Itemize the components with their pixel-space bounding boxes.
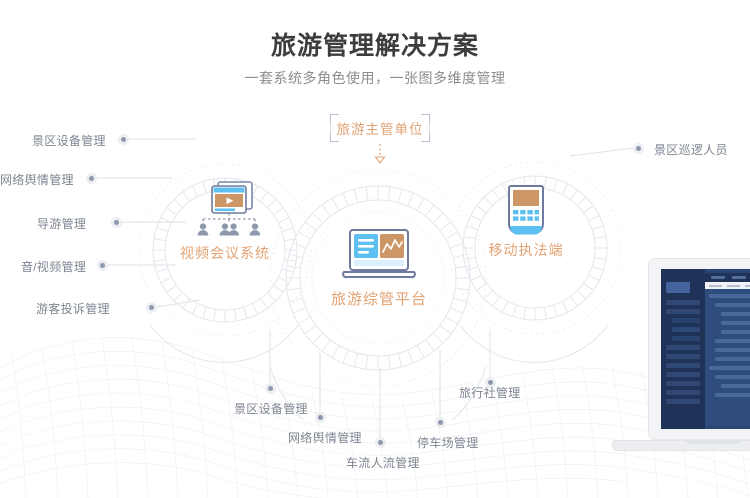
bottom-item-dot-3[interactable] [435, 417, 446, 428]
left-item-label-1: 网络舆情管理 [0, 171, 74, 188]
hub-label-video: 视频会议系统 [165, 243, 285, 263]
dashboard-body [705, 289, 750, 426]
handheld-device-icon [505, 183, 547, 243]
left-item-label-2: 导游管理 [37, 215, 86, 232]
dashboard-tree [705, 289, 750, 426]
bottom-item-label-0: 景区设备管理 [234, 400, 308, 417]
left-item-label-3: 音/视频管理 [21, 258, 86, 275]
bottom-item-dot-2[interactable] [375, 437, 386, 448]
corner-tl [330, 114, 339, 123]
bottom-item-label-1: 网络舆情管理 [288, 429, 362, 446]
corner-bl [330, 133, 339, 142]
bottom-item-label-3: 停车场管理 [417, 434, 479, 451]
left-item-label-4: 游客投诉管理 [36, 300, 110, 317]
sidebar-row [666, 399, 700, 404]
page-title: 旅游管理解决方案 [0, 26, 750, 62]
corner-tr [421, 114, 430, 123]
right-item-dot-0[interactable] [633, 143, 644, 154]
hub-label-mobile: 移动执法端 [472, 240, 580, 260]
left-item-dot-0[interactable] [118, 134, 129, 145]
hub-label-platform: 旅游综管平台 [318, 288, 440, 309]
left-item-dot-3[interactable] [97, 260, 108, 271]
sidebar-row [666, 381, 700, 386]
sidebar-row [672, 336, 700, 341]
authority-label: 旅游主管单位 [337, 118, 424, 138]
sidebar-row [666, 345, 700, 350]
bottom-item-dot-0[interactable] [265, 383, 276, 394]
edge-right [429, 123, 430, 133]
dashboard-main [705, 269, 750, 429]
bottom-item-dot-1[interactable] [315, 412, 326, 423]
bottom-item-label-4: 旅行社管理 [459, 384, 521, 401]
right-item-label-0: 景区巡逻人员 [654, 141, 728, 158]
sidebar-row [666, 390, 700, 395]
sidebar-row-selected [672, 327, 700, 332]
sidebar-row [666, 363, 700, 368]
left-item-dot-1[interactable] [86, 173, 97, 184]
video-conference-icon [190, 178, 260, 240]
corner-br [421, 133, 430, 142]
bottom-item-label-2: 车流人流管理 [346, 454, 420, 471]
page-subtitle: 一套系统多角色使用，一张图多维度管理 [0, 68, 750, 88]
authority-box[interactable]: 旅游主管单位 [330, 114, 430, 142]
edge-left [330, 123, 331, 133]
dashboard-logo [666, 282, 700, 293]
left-item-label-0: 景区设备管理 [32, 132, 106, 149]
laptop-notch [686, 440, 741, 444]
laptop-dashboard-preview [648, 258, 750, 473]
poster-canvas: 旅游管理解决方案 一套系统多角色使用，一张图多维度管理 [0, 0, 750, 498]
dashboard-sidebar [661, 269, 705, 429]
dashboard-topbar [705, 273, 750, 282]
dashboard-screen [661, 269, 750, 429]
dashboard-breadcrumb [705, 282, 750, 289]
ring-graphics [120, 120, 640, 420]
sidebar-row [666, 354, 700, 359]
laptop-dashboard-icon [338, 228, 420, 284]
sidebar-row [666, 309, 700, 314]
sidebar-row [672, 318, 700, 323]
laptop-lid [648, 258, 750, 440]
sidebar-row [666, 300, 700, 305]
left-item-dot-2[interactable] [111, 217, 122, 228]
left-item-dot-4[interactable] [146, 302, 157, 313]
sidebar-row [666, 372, 700, 377]
